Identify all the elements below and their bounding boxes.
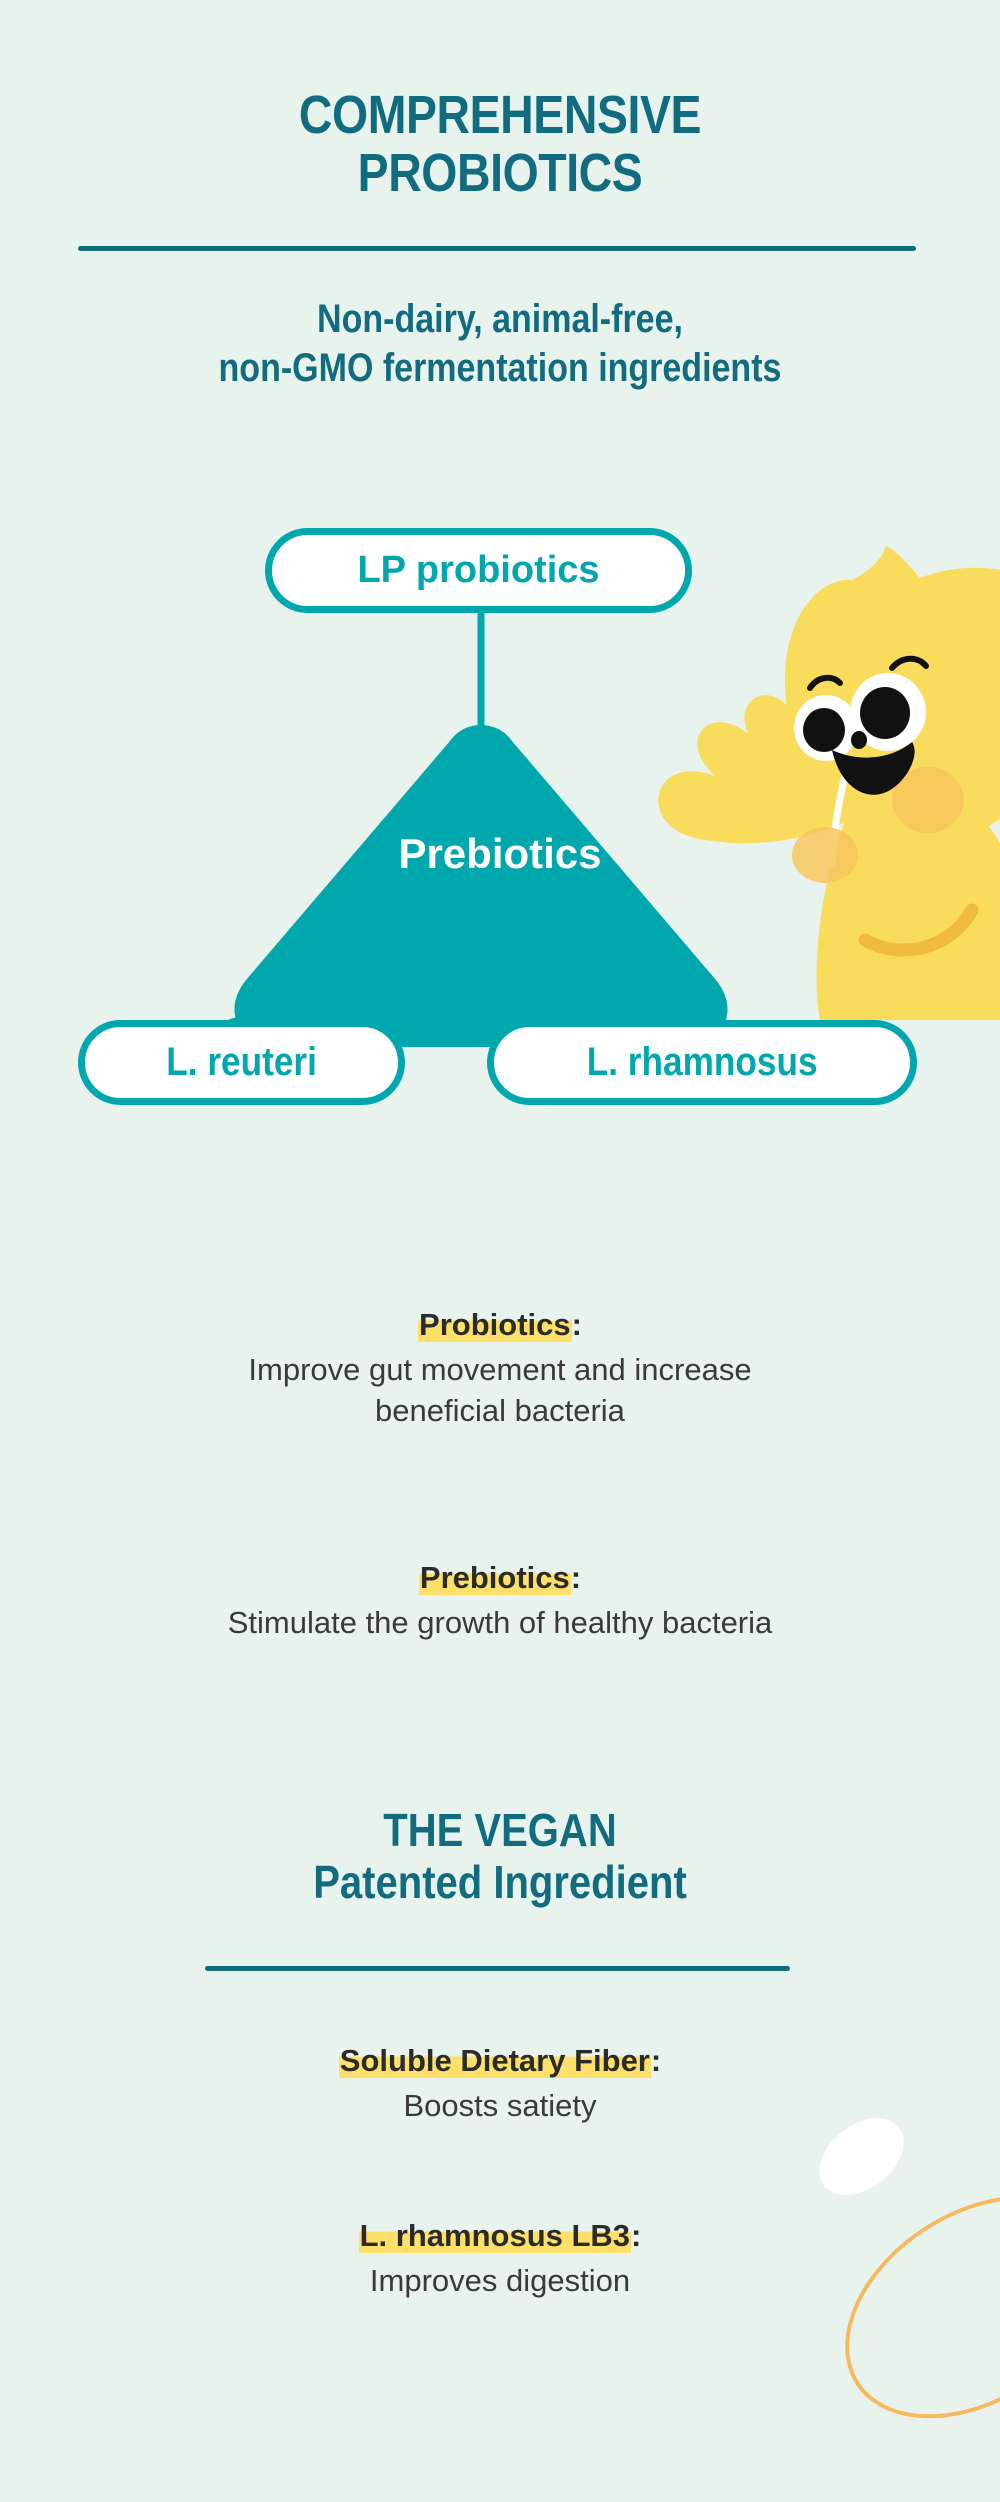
info-term-l-rhamnosus-lb3: L. rhamnosus LB3 (359, 2218, 631, 2254)
vegan-title-line-2: Patented Ingredient (65, 1857, 935, 1909)
vegan-title-line-1: THE VEGAN (65, 1805, 935, 1857)
mascot (620, 520, 1000, 1020)
info-desc-probiotics: Improve gut movement and increase benefi… (0, 1350, 1000, 1432)
info-colon-soluble-dietary-fiber: : (651, 2043, 661, 2078)
node-l-rhamnosus-label: L. rhamnosus (587, 1040, 818, 1085)
subtitle-line-2: non-GMO fermentation ingredients (75, 344, 925, 393)
info-desc-probiotics-line-2: beneficial bacteria (0, 1391, 1000, 1432)
info-colon-l-rhamnosus-lb3: : (631, 2218, 641, 2253)
title-line-1: COMPREHENSIVE (70, 86, 930, 144)
info-term-soluble-dietary-fiber-text: Soluble Dietary Fiber (339, 2043, 651, 2078)
info-term-l-rhamnosus-lb3-text: L. rhamnosus LB3 (359, 2218, 631, 2253)
info-term-prebiotics: Prebiotics (419, 1560, 571, 1596)
node-l-reuteri[interactable]: L. reuteri (78, 1020, 405, 1105)
subtitle-line-1: Non-dairy, animal-free, (75, 295, 925, 344)
info-block-soluble-dietary-fiber: Soluble Dietary Fiber: Boosts satiety (0, 2043, 1000, 2127)
info-colon-probiotics: : (572, 1307, 582, 1342)
info-block-prebiotics: Prebiotics: Stimulate the growth of heal… (0, 1560, 1000, 1644)
info-desc-probiotics-line-1: Improve gut movement and increase (0, 1350, 1000, 1391)
orange-ring-decoration (804, 2150, 1000, 2465)
info-desc-l-rhamnosus-lb3: Improves digestion (0, 2261, 1000, 2302)
vegan-section-title: THE VEGAN Patented Ingredient (65, 1805, 935, 1909)
info-desc-soluble-dietary-fiber: Boosts satiety (0, 2086, 1000, 2127)
info-term-soluble-dietary-fiber: Soluble Dietary Fiber (339, 2043, 651, 2079)
title-line-2: PROBIOTICS (70, 144, 930, 202)
node-l-rhamnosus[interactable]: L. rhamnosus (487, 1020, 917, 1105)
info-desc-l-rhamnosus-lb3-line-1: Improves digestion (0, 2261, 1000, 2302)
info-term-probiotics: Probiotics (418, 1307, 572, 1343)
page-title: COMPREHENSIVE PROBIOTICS (70, 86, 930, 203)
info-block-probiotics: Probiotics: Improve gut movement and inc… (0, 1307, 1000, 1432)
vegan-divider (205, 1966, 790, 1971)
infographic-page: COMPREHENSIVE PROBIOTICS Non-dairy, anim… (0, 0, 1000, 2502)
info-term-prebiotics-text: Prebiotics (419, 1560, 571, 1595)
info-desc-prebiotics-line-1: Stimulate the growth of healthy bacteria (0, 1603, 1000, 1644)
page-subtitle: Non-dairy, animal-free, non-GMO fermenta… (75, 295, 925, 393)
node-l-reuteri-label: L. reuteri (166, 1040, 317, 1085)
info-desc-soluble-dietary-fiber-line-1: Boosts satiety (0, 2086, 1000, 2127)
waving-blob-mascot-icon (620, 520, 1000, 1020)
info-desc-prebiotics: Stimulate the growth of healthy bacteria (0, 1603, 1000, 1644)
info-term-probiotics-text: Probiotics (418, 1307, 572, 1342)
header-divider (78, 246, 916, 251)
info-colon-prebiotics: : (571, 1560, 581, 1595)
info-block-l-rhamnosus-lb3: L. rhamnosus LB3: Improves digestion (0, 2218, 1000, 2302)
node-lp-probiotics-label: LP probiotics (357, 549, 599, 592)
